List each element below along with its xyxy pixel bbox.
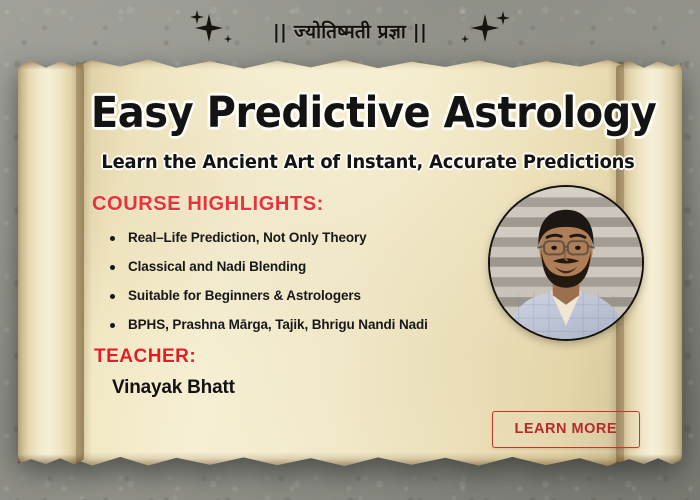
teacher-name: Vinayak Bhatt xyxy=(112,377,666,399)
page-title: Easy Predictive Astrology xyxy=(91,88,645,138)
header-strip: || ज्योतिष्मती प्रज्ञा || xyxy=(0,0,700,62)
poster-content: Easy Predictive Astrology Learn the Anci… xyxy=(70,58,666,470)
learn-more-button[interactable]: LEARN MORE xyxy=(492,411,640,448)
sparkle-star-cluster-left-icon xyxy=(183,8,245,54)
sanskrit-tagline: || ज्योतिष्मती प्रज्ञा || xyxy=(273,18,427,44)
teacher-heading: TEACHER: xyxy=(94,346,666,368)
body-row: COURSE HIGHLIGHTS: Real–Life Prediction,… xyxy=(70,193,666,399)
teacher-portrait-photo xyxy=(488,185,644,341)
poster-canvas: || ज्योतिष्मती प्रज्ञा || xyxy=(0,0,700,500)
sparkle-star-cluster-right-icon xyxy=(455,8,517,54)
page-subtitle: Learn the Ancient Art of Instant, Accura… xyxy=(88,151,648,173)
